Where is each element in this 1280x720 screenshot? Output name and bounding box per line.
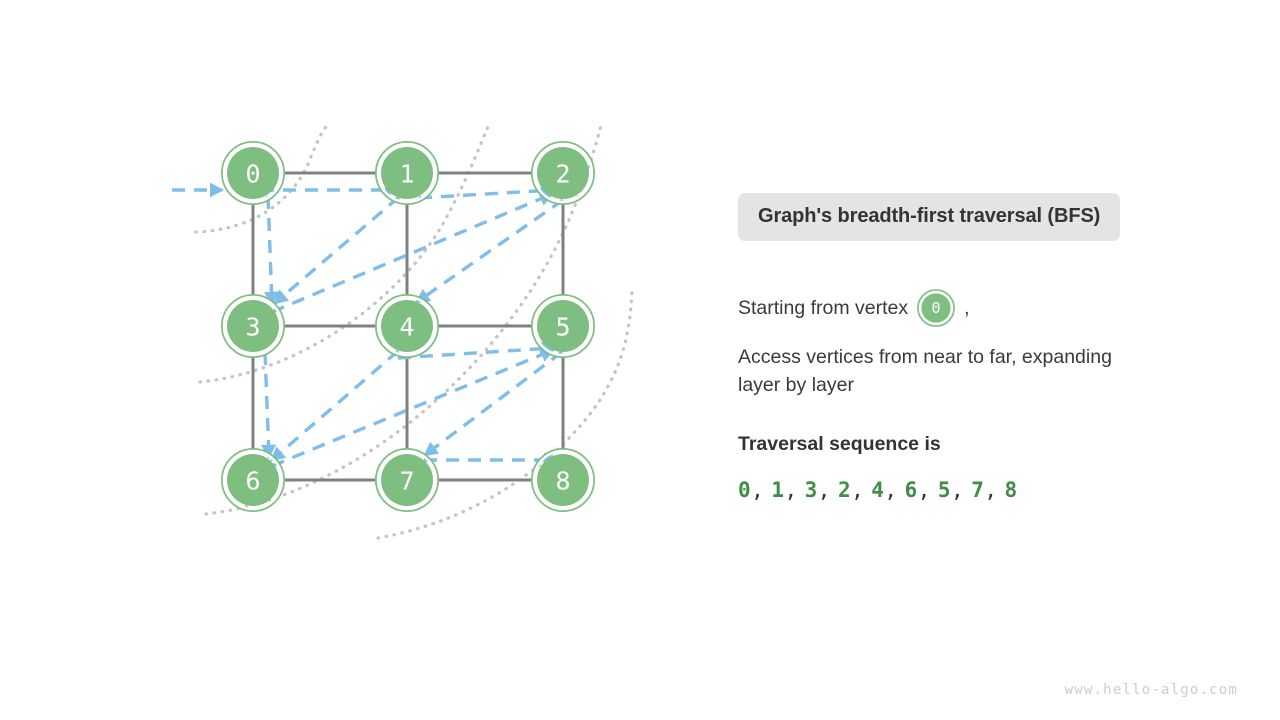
vertex-3: 3 bbox=[222, 295, 284, 357]
vertex-8: 8 bbox=[532, 449, 594, 511]
sequence-separator-5: , bbox=[918, 478, 931, 502]
inline-vertex-badge: 0 bbox=[917, 289, 955, 327]
bfs-arrow-3-2 bbox=[272, 194, 552, 312]
starting-vertex-line: Starting from vertex 0 , bbox=[738, 289, 1208, 327]
bfs-arrow-2-4 bbox=[417, 200, 563, 302]
vertex-2: 2 bbox=[532, 142, 594, 204]
sequence-item-4: 4 bbox=[871, 478, 884, 502]
starting-vertex-comma: , bbox=[964, 294, 969, 322]
sequence-separator-7: , bbox=[984, 478, 997, 502]
vertex-6: 6 bbox=[222, 449, 284, 511]
vertex-label-6: 6 bbox=[245, 467, 260, 496]
sequence-separator-6: , bbox=[951, 478, 964, 502]
vertex-label-0: 0 bbox=[245, 160, 260, 189]
vertex-label-5: 5 bbox=[555, 313, 570, 342]
bfs-arrow-1-3 bbox=[275, 197, 399, 303]
vertex-4: 4 bbox=[376, 295, 438, 357]
bfs-arrow-3-6 bbox=[265, 352, 269, 457]
vertex-label-2: 2 bbox=[555, 160, 570, 189]
info-panel: Graph's breadth-first traversal (BFS) St… bbox=[738, 193, 1208, 502]
description-text: Access vertices from near to far, expand… bbox=[738, 343, 1118, 399]
sequence-item-3: 2 bbox=[838, 478, 851, 502]
vertex-7: 7 bbox=[376, 449, 438, 511]
vertex-label-1: 1 bbox=[399, 160, 414, 189]
vertex-label-7: 7 bbox=[399, 467, 414, 496]
watermark: www.hello-algo.com bbox=[1065, 682, 1238, 698]
vertex-1: 1 bbox=[376, 142, 438, 204]
sequence-item-5: 6 bbox=[905, 478, 918, 502]
vertex-5: 5 bbox=[532, 295, 594, 357]
sequence-item-1: 1 bbox=[771, 478, 784, 502]
sequence-separator-4: , bbox=[884, 478, 897, 502]
sequence-separator-3: , bbox=[851, 478, 864, 502]
sequence-heading: Traversal sequence is bbox=[738, 433, 1208, 456]
vertex-0: 0 bbox=[222, 142, 284, 204]
sequence-item-8: 8 bbox=[1005, 478, 1018, 502]
sequence-item-7: 7 bbox=[971, 478, 984, 502]
inline-vertex-label: 0 bbox=[932, 299, 941, 317]
bfs-arrow-5-7 bbox=[425, 352, 562, 455]
bfs-arrow-4-6 bbox=[272, 351, 398, 460]
bfs-arrow-1-2 bbox=[419, 190, 553, 198]
sequence-item-6: 5 bbox=[938, 478, 951, 502]
graph-canvas: 012345678 bbox=[0, 0, 700, 720]
sequence-separator-2: , bbox=[818, 478, 831, 502]
sequence-separator-1: , bbox=[784, 478, 797, 502]
vertex-label-3: 3 bbox=[245, 313, 260, 342]
vertex-label-4: 4 bbox=[399, 313, 414, 342]
sequence-separator-0: , bbox=[751, 478, 764, 502]
panel-title: Graph's breadth-first traversal (BFS) bbox=[738, 193, 1120, 241]
starting-vertex-label: Starting from vertex bbox=[738, 294, 908, 322]
sequence-item-0: 0 bbox=[738, 478, 751, 502]
graph-figure: 012345678 bbox=[0, 0, 700, 720]
traversal-sequence: 0,1,3,2,4,6,5,7,8 bbox=[738, 478, 1208, 502]
sequence-item-2: 3 bbox=[805, 478, 818, 502]
bfs-arrow-0-3 bbox=[268, 196, 272, 304]
vertex-label-8: 8 bbox=[555, 467, 570, 496]
